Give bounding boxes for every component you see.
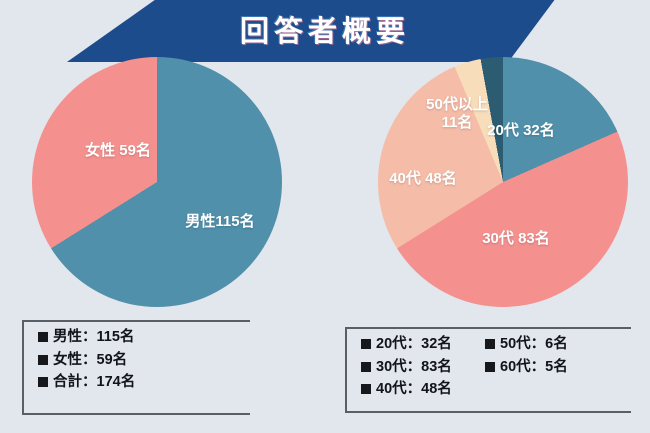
female-slice-label: 女性 59名 (63, 142, 173, 160)
slide-root: 回答者概要 女性 59名 男性115名 20代 32名 30代 83名 40代 … (0, 0, 650, 433)
square-marker-icon (38, 355, 48, 365)
legend-item: 女性：59名 (38, 353, 135, 368)
legend-item-label: 合計：174名 (53, 375, 135, 390)
header-banner: 回答者概要 (0, 0, 650, 62)
legend-item-label: 60代：5名 (500, 360, 568, 375)
legend-item: 20代：32名 (361, 337, 485, 352)
legend-item-label: 30代：83名 (376, 360, 452, 375)
age-legend-column-1: 20代：32名 30代：83名 40代：48名 (361, 337, 485, 405)
male-slice-label: 男性115名 (160, 213, 280, 231)
legend-item: 50代：6名 (485, 337, 568, 352)
legend-item-label: 50代：6名 (500, 337, 568, 352)
square-marker-icon (485, 339, 495, 349)
gender-legend-box: 男性：115名 女性：59名 合計：174名 (22, 320, 250, 415)
age30-slice-label: 30代 83名 (456, 230, 576, 248)
gender-legend-list: 男性：115名 女性：59名 合計：174名 (24, 322, 250, 398)
legend-item: 60代：5名 (485, 360, 568, 375)
header-banner-shape (0, 0, 650, 62)
age-legend-column-2: 50代：6名 60代：5名 (485, 337, 568, 405)
legend-item-label: 男性：115名 (53, 330, 134, 345)
square-marker-icon (361, 384, 371, 394)
age50plus-slice-label: 50代以上 11名 (402, 96, 512, 131)
legend-item-label: 40代：48名 (376, 382, 452, 397)
square-marker-icon (361, 339, 371, 349)
legend-item: 30代：83名 (361, 360, 485, 375)
square-marker-icon (485, 362, 495, 372)
legend-item-label: 女性：59名 (53, 353, 127, 368)
legend-item-label: 20代：32名 (376, 337, 452, 352)
age-legend-list: 20代：32名 30代：83名 40代：48名 50代：6名 (347, 329, 631, 405)
page-title: 回答者概要 (0, 0, 650, 58)
gender-pie-chart (32, 57, 282, 307)
legend-item: 合計：174名 (38, 375, 135, 390)
age-legend-box: 20代：32名 30代：83名 40代：48名 50代：6名 (345, 327, 631, 413)
legend-item: 40代：48名 (361, 382, 485, 397)
legend-item: 男性：115名 (38, 330, 135, 345)
gender-legend-column: 男性：115名 女性：59名 合計：174名 (38, 330, 135, 398)
age40-slice-label: 40代 48名 (368, 170, 478, 188)
square-marker-icon (361, 362, 371, 372)
square-marker-icon (38, 377, 48, 387)
square-marker-icon (38, 332, 48, 342)
